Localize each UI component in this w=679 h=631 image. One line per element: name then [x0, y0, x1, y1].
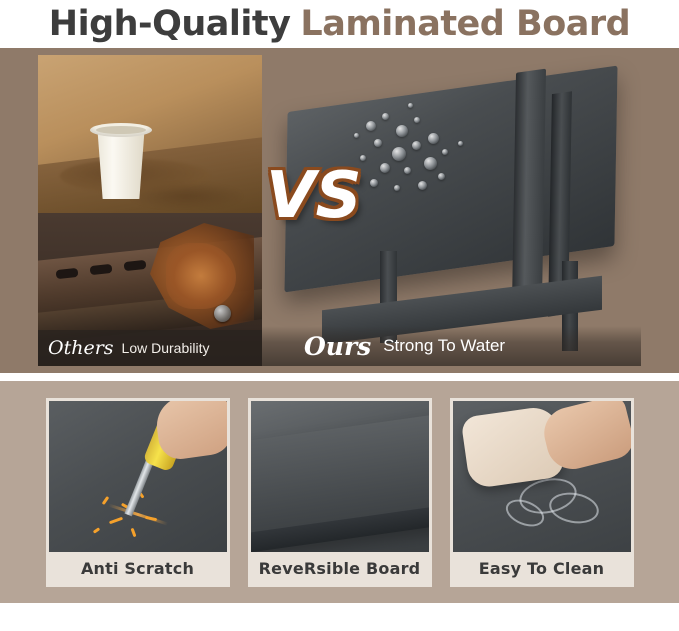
feature-caption: ReveRsible Board [251, 552, 429, 584]
water-droplet [380, 163, 390, 173]
feature-caption: Easy To Clean [453, 552, 631, 584]
water-droplet [442, 149, 448, 155]
page-title-primary: High-Quality [49, 4, 291, 44]
feature-caption-label: Anti Scratch [81, 559, 194, 578]
water-droplet [394, 185, 400, 191]
feature-caption-label: ReveRsible Board [259, 559, 421, 578]
feature-card-list: Anti Scratch ReveRsible Board [0, 381, 679, 603]
water-droplet [392, 147, 406, 161]
feature-card-easy-to-clean: Easy To Clean [450, 398, 634, 587]
water-droplet [408, 103, 413, 108]
paper-cup-rim-inner [96, 126, 146, 134]
water-droplet [354, 133, 359, 138]
others-label: Others [48, 337, 114, 359]
water-droplet [438, 173, 445, 180]
water-droplet [396, 125, 408, 137]
ours-label: Ours [304, 332, 371, 361]
feature-strip: Anti Scratch ReveRsible Board [0, 381, 679, 603]
feature-card-reversible-board: ReveRsible Board [248, 398, 432, 587]
reversible-board-image [251, 401, 429, 555]
water-droplet [428, 133, 439, 144]
water-droplet [458, 141, 463, 146]
board-side-rail [512, 69, 546, 306]
anti-scratch-image [49, 401, 227, 555]
page-title: High-Quality Laminated Board [0, 0, 679, 48]
water-droplet [412, 141, 421, 150]
others-caption: Others Low Durability [38, 330, 262, 366]
water-droplet [370, 179, 378, 187]
water-droplet [418, 181, 427, 190]
water-droplet [414, 117, 420, 123]
page-title-secondary: Laminated Board [300, 4, 630, 44]
easy-to-clean-image [453, 401, 631, 555]
others-top-photo [38, 55, 262, 213]
feature-caption: Anti Scratch [49, 552, 227, 584]
water-droplet [424, 157, 437, 170]
others-column: Others Low Durability [38, 55, 262, 366]
others-sublabel: Low Durability [122, 340, 210, 356]
water-droplet [404, 167, 411, 174]
ours-caption: Ours Strong To Water [262, 326, 641, 366]
feature-card-anti-scratch: Anti Scratch [46, 398, 230, 587]
ours-sublabel: Strong To Water [383, 336, 505, 356]
product-infographic: High-Quality Laminated Board [0, 0, 679, 631]
liquid-spill-secondary [130, 183, 242, 209]
comparison-hero: Others Low Durability [0, 48, 679, 373]
feature-caption-label: Easy To Clean [479, 559, 604, 578]
bolt-icon [214, 305, 231, 322]
water-droplet [374, 139, 382, 147]
paper-cup [94, 127, 148, 199]
water-droplet [366, 121, 376, 131]
rust-patch-core [166, 243, 236, 309]
vs-badge: VS [266, 164, 362, 228]
water-droplet [382, 113, 389, 120]
